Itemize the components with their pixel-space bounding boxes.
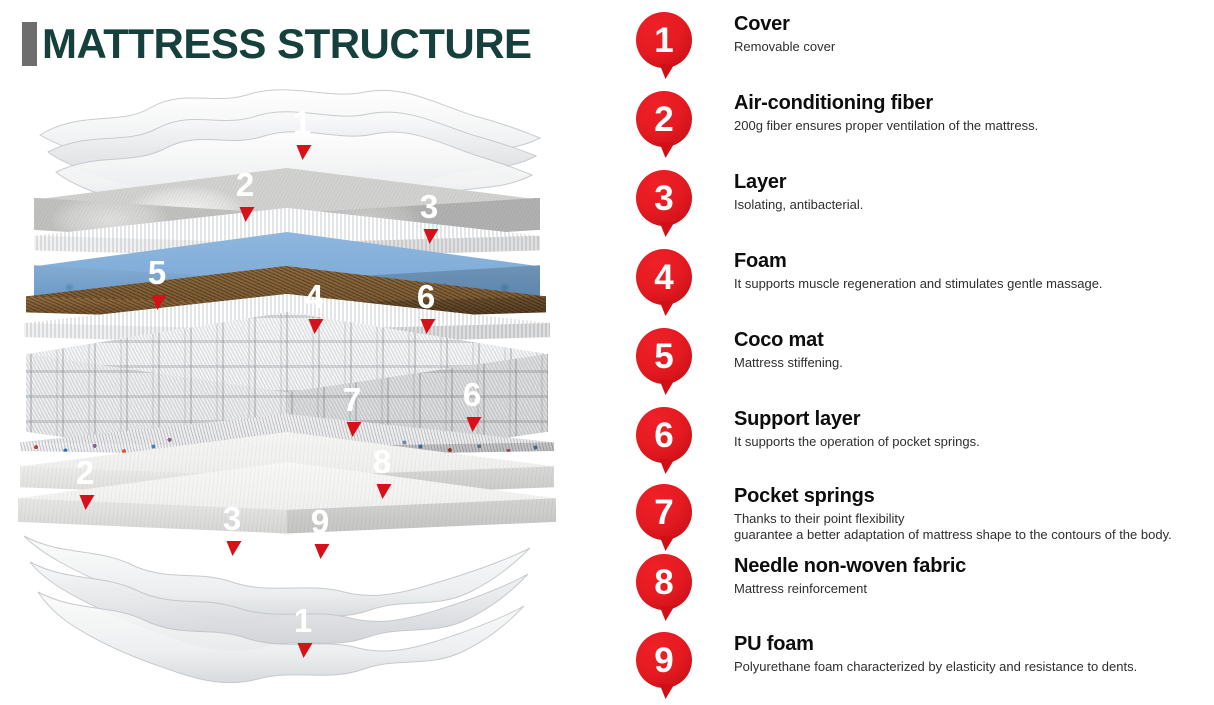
legend-title-6: Support layer xyxy=(734,407,1214,431)
legend-list: 1 Cover Removable cover 2 Air-conditioni… xyxy=(636,0,1214,705)
legend-pin-9[interactable]: 9 xyxy=(636,632,692,688)
legend-pin-6[interactable]: 6 xyxy=(636,407,692,463)
legend-pin-4[interactable]: 4 xyxy=(636,249,692,305)
legend-pin-7[interactable]: 7 xyxy=(636,484,692,540)
diagram-pin-2-fiber-lower[interactable]: 2 xyxy=(58,445,112,499)
diagram-pin-6-support-lower[interactable]: 6 xyxy=(445,367,499,421)
diagram-pin-5-coco[interactable]: 5 xyxy=(130,245,184,299)
legend-text-1: Cover Removable cover xyxy=(734,12,1214,55)
legend-desc-7-line2: guarantee a better adaptation of mattres… xyxy=(734,527,1214,543)
diagram-pin-2-fiber[interactable]: 2 xyxy=(218,157,272,211)
legend-desc-2: 200g fiber ensures proper ventilation of… xyxy=(734,118,1214,134)
diagram-pin-1-top[interactable]: 1 xyxy=(275,95,329,149)
legend-title-8: Needle non-woven fabric xyxy=(734,554,1214,578)
diagram-pin-9-pu-foam[interactable]: 9 xyxy=(293,494,347,548)
legend-pin-3[interactable]: 3 xyxy=(636,170,692,226)
legend-pin-5[interactable]: 5 xyxy=(636,328,692,384)
legend-title-4: Foam xyxy=(734,249,1214,273)
legend-pin-8[interactable]: 8 xyxy=(636,554,692,610)
legend-text-2: Air-conditioning fiber 200g fiber ensure… xyxy=(734,91,1214,134)
diagram-pin-3-layer-lower[interactable]: 3 xyxy=(205,491,259,545)
legend-desc-7: Thanks to their point flexibility guaran… xyxy=(734,511,1214,543)
legend-desc-8: Mattress reinforcement xyxy=(734,581,1214,597)
legend-text-9: PU foam Polyurethane foam characterized … xyxy=(734,632,1214,675)
diagram-pin-1-bottom[interactable]: 1 xyxy=(276,593,330,647)
legend-desc-4: It supports muscle regeneration and stim… xyxy=(734,276,1214,292)
page-title-row: MATTRESS STRUCTURE xyxy=(22,22,532,66)
diagram-pin-6-support-upper[interactable]: 6 xyxy=(399,269,453,323)
page-title: MATTRESS STRUCTURE xyxy=(42,22,532,66)
legend-text-6: Support layer It supports the operation … xyxy=(734,407,1214,450)
legend-title-5: Coco mat xyxy=(734,328,1214,352)
mattress-diagram: 1 2 3 5 4 6 7 6 8 2 3 9 1 xyxy=(0,80,620,705)
legend-pin-1[interactable]: 1 xyxy=(636,12,692,68)
legend-text-5: Coco mat Mattress stiffening. xyxy=(734,328,1214,371)
legend-desc-1: Removable cover xyxy=(734,39,1214,55)
legend-title-3: Layer xyxy=(734,170,1214,194)
legend-text-3: Layer Isolating, antibacterial. xyxy=(734,170,1214,213)
legend-text-8: Needle non-woven fabric Mattress reinfor… xyxy=(734,554,1214,597)
diagram-pin-3-layer[interactable]: 3 xyxy=(402,179,456,233)
legend-title-7: Pocket springs xyxy=(734,484,1214,508)
legend-title-9: PU foam xyxy=(734,632,1214,656)
diagram-pin-7-springs[interactable]: 7 xyxy=(325,372,379,426)
legend-desc-3: Isolating, antibacterial. xyxy=(734,197,1214,213)
legend-desc-6: It supports the operation of pocket spri… xyxy=(734,434,1214,450)
legend-title-1: Cover xyxy=(734,12,1214,36)
legend-desc-9: Polyurethane foam characterized by elast… xyxy=(734,659,1214,675)
legend-desc-5: Mattress stiffening. xyxy=(734,355,1214,371)
legend-text-7: Pocket springs Thanks to their point fle… xyxy=(734,484,1214,543)
legend-title-2: Air-conditioning fiber xyxy=(734,91,1214,115)
diagram-pin-4-foam[interactable]: 4 xyxy=(287,269,341,323)
legend-pin-2[interactable]: 2 xyxy=(636,91,692,147)
legend-text-4: Foam It supports muscle regeneration and… xyxy=(734,249,1214,292)
title-accent-bar xyxy=(22,22,37,66)
legend-desc-7-line1: Thanks to their point flexibility xyxy=(734,511,905,526)
diagram-pin-8-needle-fabric[interactable]: 8 xyxy=(355,434,409,488)
infographic-page: MATTRESS STRUCTURE xyxy=(0,0,1214,705)
